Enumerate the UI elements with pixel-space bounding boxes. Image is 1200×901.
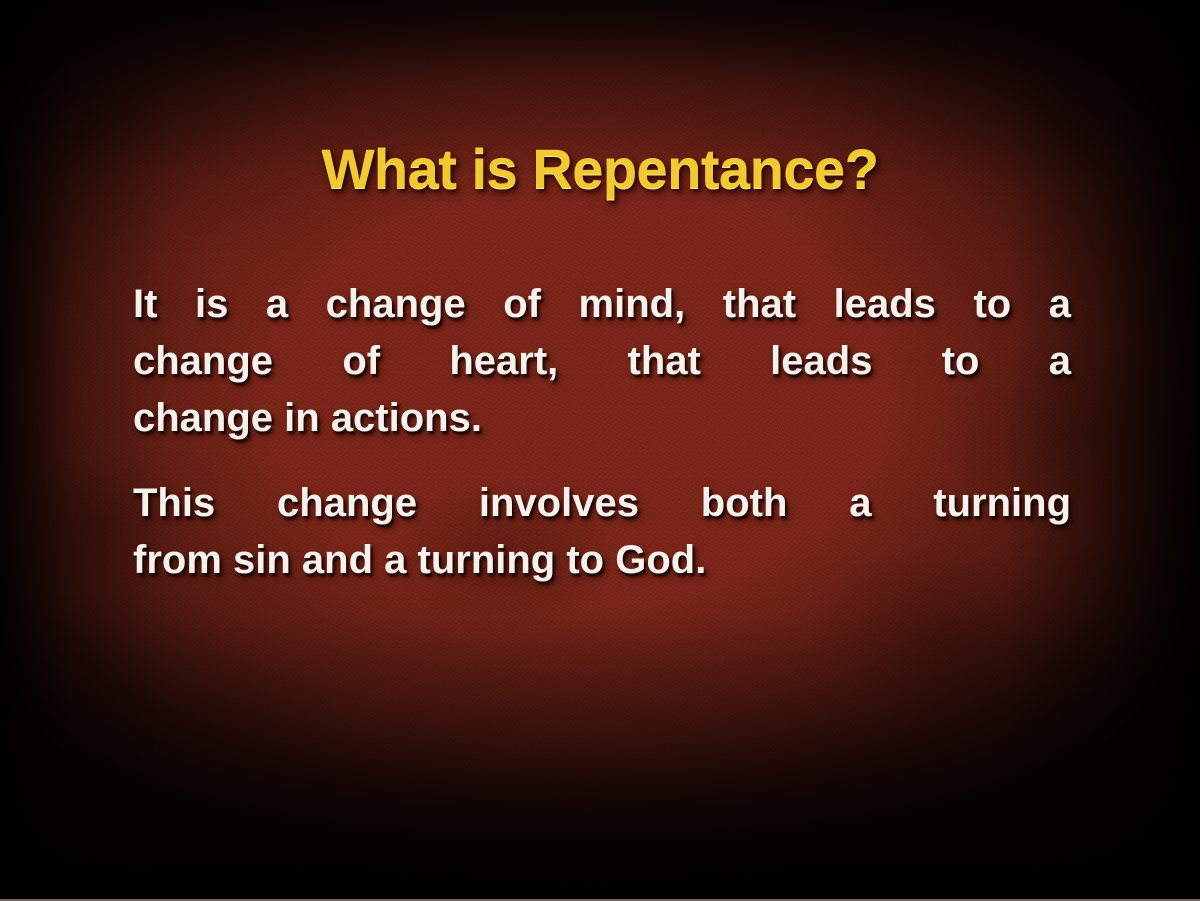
paragraph-definition-line-3: change in actions. xyxy=(133,390,1071,447)
slide-content: What is Repentance? It is a change of mi… xyxy=(0,0,1200,901)
slide-body: It is a change of mind, that leads to a … xyxy=(133,276,1071,589)
paragraph-turning-line-1: This change involves both a turning xyxy=(133,475,1071,532)
presentation-slide: What is Repentance? It is a change of mi… xyxy=(0,0,1200,901)
paragraph-definition-line-1: It is a change of mind, that leads to a xyxy=(133,276,1071,333)
paragraph-turning: This change involves both a turning from… xyxy=(133,475,1071,589)
paragraph-definition: It is a change of mind, that leads to a … xyxy=(133,276,1071,447)
slide-title: What is Repentance? xyxy=(0,136,1200,201)
paragraph-turning-line-2: from sin and a turning to God. xyxy=(133,532,1071,589)
paragraph-definition-line-2: change of heart, that leads to a xyxy=(133,333,1071,390)
